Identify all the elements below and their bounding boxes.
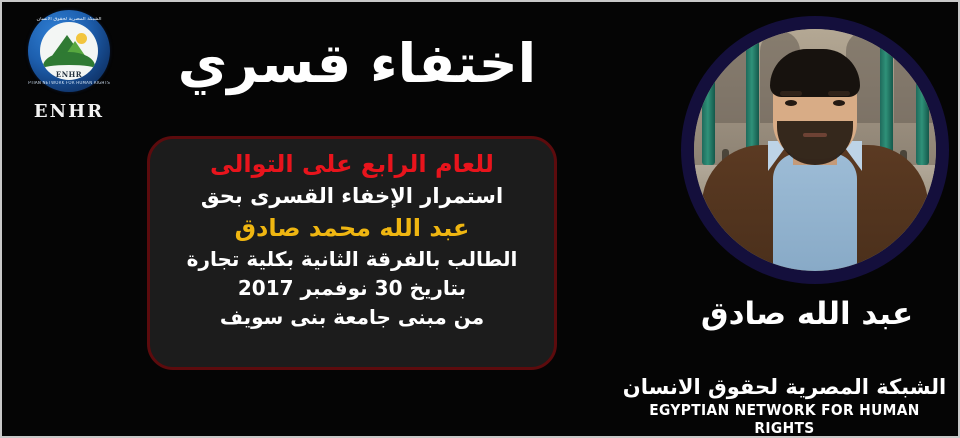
subject-eyebrow-right <box>828 91 850 96</box>
poster-canvas: الشبكة المصرية لحقوق الانسان EGYPTIAN NE… <box>0 0 960 438</box>
case-full-name: عبد الله محمد صادق <box>166 213 538 244</box>
photo-background-column <box>702 35 715 165</box>
portrait-frame <box>681 16 949 284</box>
logo-inner-disc: ENHR <box>40 22 98 80</box>
subject-eye-right <box>833 100 845 106</box>
organization-logo-block: الشبكة المصرية لحقوق الانسان EGYPTIAN NE… <box>14 10 124 122</box>
case-details-box: للعام الرابع على التوالى استمرار الإخفاء… <box>147 136 557 370</box>
logo-ring-text-english: EGYPTIAN NETWORK FOR HUMAN RIGHTS <box>28 81 110 85</box>
organization-footer: الشبكة المصرية لحقوق الانسان EGYPTIAN NE… <box>622 376 947 437</box>
page-title: اختفاء قسري <box>157 36 557 93</box>
photo-background-column <box>880 35 893 165</box>
case-headline: للعام الرابع على التوالى <box>166 149 538 180</box>
case-location: من مبنى جامعة بنى سويف <box>166 305 538 331</box>
enhr-logo-icon: الشبكة المصرية لحقوق الانسان EGYPTIAN NE… <box>28 10 110 92</box>
portrait-photo <box>694 29 936 271</box>
subject-eyebrow-left <box>780 91 802 96</box>
subject-mouth <box>803 133 827 137</box>
photo-background-column <box>916 35 929 165</box>
photo-background-arch <box>710 31 750 123</box>
organization-name-english: EGYPTIAN NETWORK FOR HUMAN RIGHTS <box>635 401 934 437</box>
portrait-caption-name: عبد الله صادق <box>662 296 952 332</box>
logo-caption: ENHR <box>14 101 124 122</box>
case-occupation: الطالب بالفرقة الثانية بكلية تجارة <box>166 247 538 273</box>
logo-inner-abbreviation: ENHR <box>40 70 98 79</box>
subject-eye-left <box>785 100 797 106</box>
case-subject: استمرار الإخفاء القسرى بحق <box>166 183 538 210</box>
organization-name-arabic: الشبكة المصرية لحقوق الانسان <box>622 376 947 399</box>
case-date: بتاريخ 30 نوفمبر 2017 <box>166 276 538 302</box>
